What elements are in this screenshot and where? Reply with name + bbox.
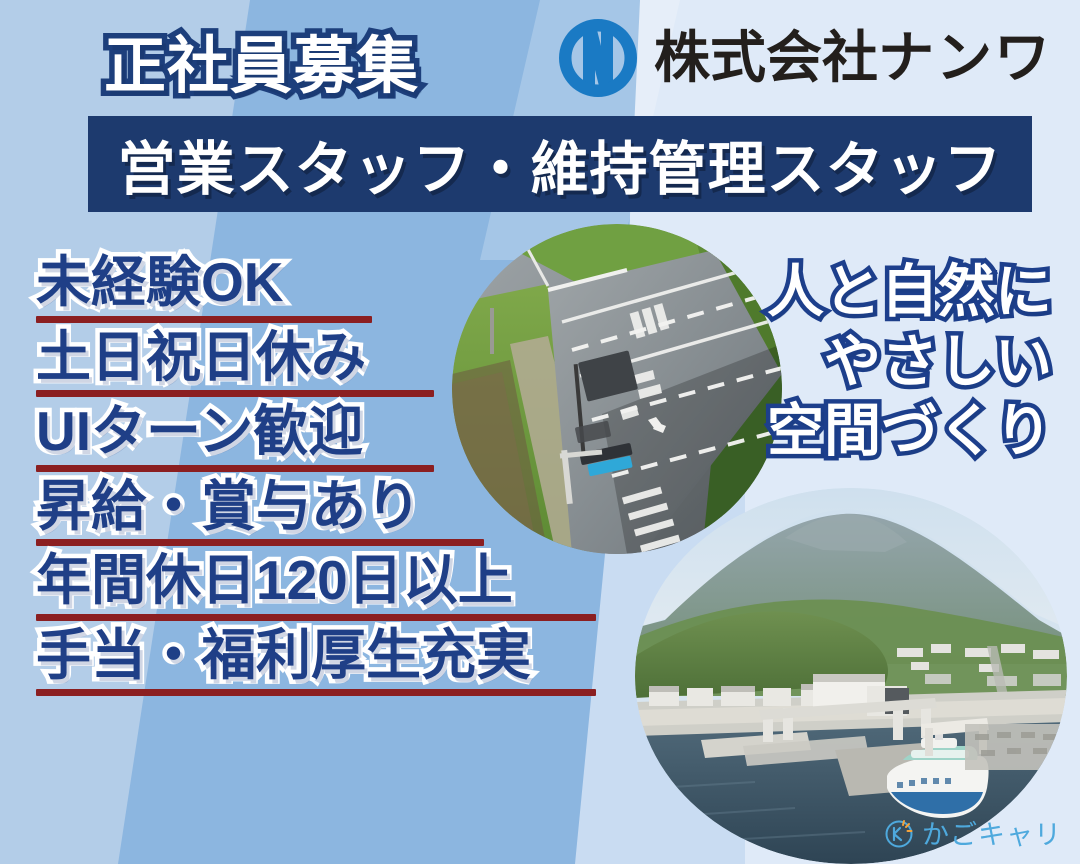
list-item: 土日祝日休み	[36, 327, 596, 398]
tagline-line: やさしい	[767, 328, 1052, 398]
list-item: 昇給・賞与あり	[36, 476, 596, 547]
company-name: 株式会社ナンワ	[654, 30, 1052, 86]
list-item: 未経験OK	[36, 252, 596, 323]
tagline: 人と自然に やさしい 空間づくり	[767, 258, 1052, 467]
benefit-label: 昇給・賞与あり	[36, 476, 596, 538]
recruitment-banner: 正社員募集 株式会社ナンワ 営業スタッフ・維持管理スタッフ 未経験OK 土日祝日…	[0, 0, 1080, 864]
list-item: 年間休日120日以上	[36, 550, 596, 621]
nanwa-circle-n-logo-icon	[556, 16, 640, 100]
benefit-label: 手当・福利厚生充実	[36, 625, 596, 687]
site-watermark: かごキャリ	[883, 813, 1062, 852]
list-item: 手当・福利厚生充実	[36, 625, 596, 696]
watermark-label: かごキャリ	[922, 813, 1062, 852]
harbor-ferry-photo	[635, 488, 1067, 864]
company-name-prefix: 株式会社	[654, 26, 878, 89]
benefit-underline	[36, 614, 596, 621]
tagline-line: 人と自然に	[767, 258, 1052, 328]
benefit-label: 年間休日120日以上	[36, 550, 596, 612]
benefit-underline	[36, 465, 434, 472]
page-headline: 正社員募集	[104, 15, 419, 105]
benefit-label: 未経験OK	[36, 252, 596, 314]
benefit-underline	[36, 539, 484, 546]
benefit-underline	[36, 316, 372, 323]
benefit-label: UIターン歓迎	[36, 401, 596, 463]
company-name-kana: ナンワ	[878, 26, 1052, 89]
job-title-bar: 営業スタッフ・維持管理スタッフ	[88, 116, 1032, 212]
benefits-list: 未経験OK 土日祝日休み UIターン歓迎 昇給・賞与あり 年間休日120日以上 …	[36, 252, 596, 700]
kagocari-circle-k-icon	[883, 817, 915, 849]
company-logo: 株式会社ナンワ	[556, 16, 1052, 100]
list-item: UIターン歓迎	[36, 401, 596, 472]
benefit-label: 土日祝日休み	[36, 327, 596, 389]
tagline-line: 空間づくり	[767, 397, 1052, 467]
job-title-text: 営業スタッフ・維持管理スタッフ	[117, 122, 1002, 206]
benefit-underline	[36, 689, 596, 696]
benefit-underline	[36, 390, 434, 397]
